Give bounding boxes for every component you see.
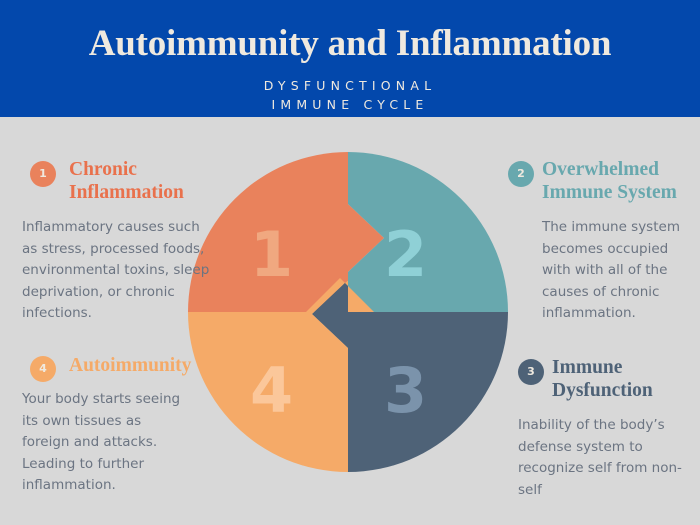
step-4-body: Your body starts seeing its own tissues … — [22, 389, 192, 497]
subtitle-line-1: DYSFUNCTIONAL — [0, 76, 700, 95]
page-title: Autoimmunity and Inflammation — [0, 22, 700, 66]
step-4-heading-line-1: Autoimmunity — [69, 355, 191, 376]
wheel-number-1: 1 — [250, 224, 293, 286]
step-3-badge: 3 — [518, 359, 544, 385]
step-4-heading: 4 Autoimmunity — [22, 354, 232, 377]
step-2-heading: 2 Overwhelmed Immune System — [502, 158, 698, 204]
step-1-heading-line-2: Inflammation — [69, 182, 184, 203]
step-block-autoimmunity: 4 Autoimmunity Your body starts seeing i… — [22, 354, 232, 497]
cycle-wheel: 1 2 3 4 — [188, 152, 508, 472]
subtitle-line-2: IMMUNE CYCLE — [0, 95, 700, 114]
step-1-heading: 1 Chronic Inflammation — [22, 158, 222, 204]
step-1-body: Inflammatory causes such as stress, proc… — [22, 217, 212, 325]
step-1-heading-line-1: Chronic — [69, 159, 137, 180]
step-3-heading-line-1: Immune — [552, 357, 622, 378]
step-2-heading-line-2: Immune System — [542, 182, 677, 203]
step-2-body: The immune system becomes occupied with … — [542, 217, 698, 325]
wheel-number-3: 3 — [384, 360, 427, 422]
step-4-badge: 4 — [30, 356, 56, 382]
step-block-immune-dysfunction: 3 Immune Dysfunction Inability of the bo… — [502, 356, 698, 501]
page-subtitle: DYSFUNCTIONAL IMMUNE CYCLE — [0, 76, 700, 114]
step-3-heading-line-2: Dysfunction — [552, 380, 653, 401]
header-banner: Autoimmunity and Inflammation DYSFUNCTIO… — [0, 0, 700, 117]
wheel-number-4: 4 — [250, 360, 293, 422]
step-1-badge: 1 — [30, 161, 56, 187]
step-3-heading: 3 Immune Dysfunction — [502, 356, 698, 402]
step-2-badge: 2 — [508, 161, 534, 187]
wheel-number-2: 2 — [384, 224, 427, 286]
step-block-overwhelmed-immune-system: 2 Overwhelmed Immune System The immune s… — [502, 158, 698, 325]
step-3-body: Inability of the body’s defense system t… — [518, 415, 698, 501]
step-block-chronic-inflammation: 1 Chronic Inflammation Inflammatory caus… — [22, 158, 222, 325]
step-2-heading-line-1: Overwhelmed — [542, 159, 659, 180]
